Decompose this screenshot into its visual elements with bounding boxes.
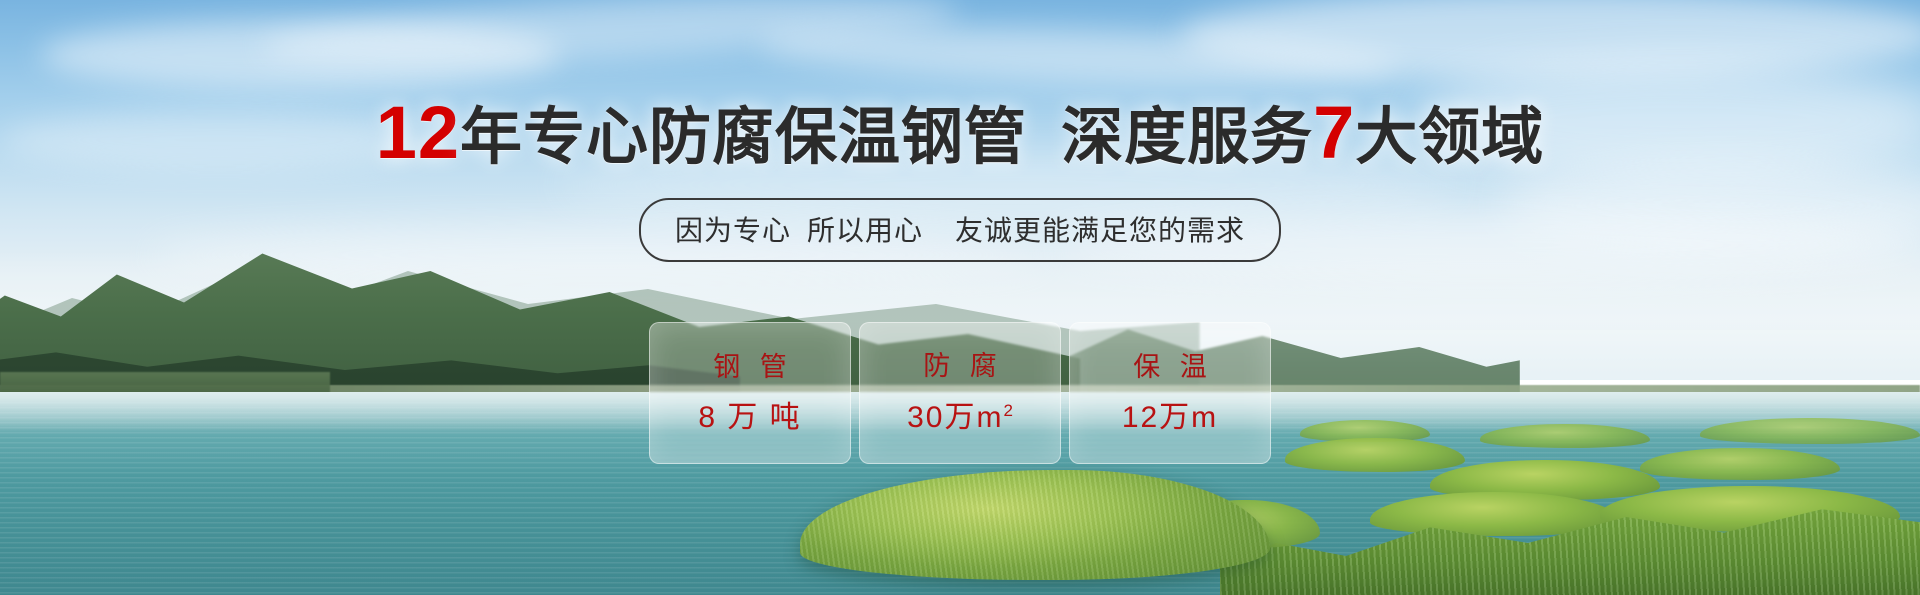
banner-content: 12年专心防腐保温钢管深度服务7大领域 因为专心所以用心友诚更能满足您的需求 钢… — [0, 0, 1920, 595]
tagline-pill: 因为专心所以用心友诚更能满足您的需求 — [639, 198, 1281, 262]
stat-card-value-text: 8 万 吨 — [698, 401, 801, 434]
stat-card-value: 30万m2 — [907, 402, 1013, 433]
headline-fields-count: 7 — [1313, 91, 1355, 174]
headline-years: 12 — [376, 91, 460, 174]
stat-card-title: 防 腐 — [917, 353, 1003, 380]
stat-card-value: 8 万 吨 — [698, 403, 801, 433]
tagline-segment-3: 友诚更能满足您的需求 — [955, 215, 1245, 246]
stat-card-value-text: 12万m — [1122, 401, 1218, 434]
headline-years-suffix: 年专心防腐保温钢管 — [460, 103, 1027, 172]
headline-fields-suffix: 大领域 — [1355, 103, 1544, 172]
stat-card-value-text: 30万m — [907, 401, 1003, 434]
stat-card-title: 钢 管 — [707, 354, 793, 381]
tagline-segment-1: 因为专心 — [675, 215, 791, 246]
stat-card-steel-pipe[interactable]: 钢 管 8 万 吨 — [649, 322, 851, 464]
stat-card-group: 钢 管 8 万 吨 防 腐 30万m2 保 温 12万m — [649, 322, 1271, 464]
banner-headline: 12年专心防腐保温钢管深度服务7大领域 — [0, 96, 1920, 170]
headline-service-prefix: 深度服务 — [1061, 103, 1313, 172]
tagline-segment-2: 所以用心 — [807, 215, 923, 246]
stat-card-unit-exponent: 2 — [1003, 401, 1012, 420]
stat-card-value: 12万m — [1122, 403, 1218, 433]
stat-card-anticorrosion[interactable]: 防 腐 30万m2 — [859, 322, 1061, 464]
stat-card-insulation[interactable]: 保 温 12万m — [1069, 322, 1271, 464]
stat-card-title: 保 温 — [1127, 354, 1213, 381]
hero-banner: 12年专心防腐保温钢管深度服务7大领域 因为专心所以用心友诚更能满足您的需求 钢… — [0, 0, 1920, 595]
